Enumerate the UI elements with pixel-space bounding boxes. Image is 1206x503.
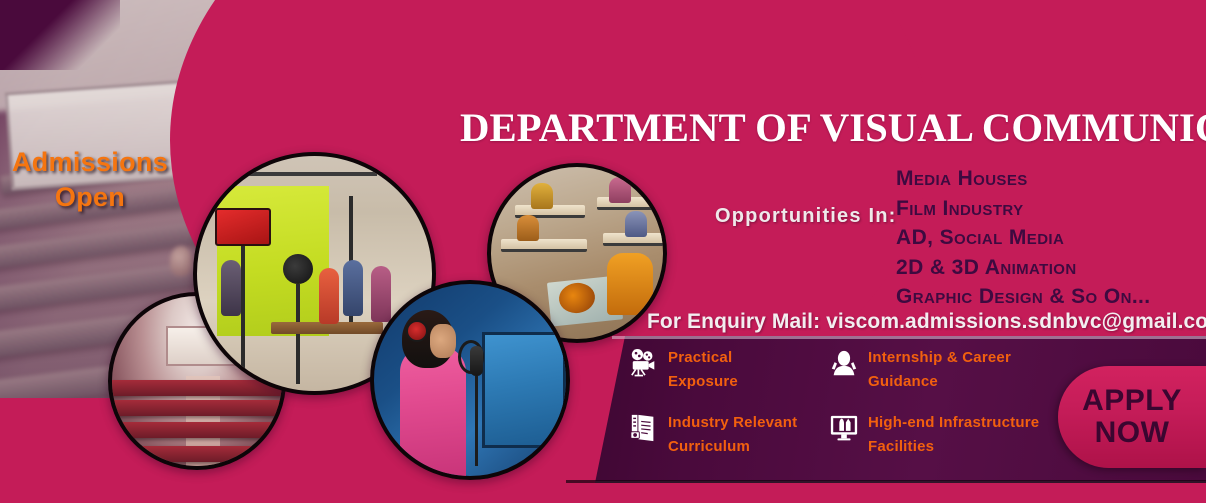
apply-now-button[interactable]: APPLY NOW [1058, 366, 1206, 468]
light-stand [241, 246, 245, 376]
opportunity-item: Graphic Design & so on... [896, 282, 1151, 312]
studio-person [221, 260, 241, 316]
seat-row [112, 400, 282, 416]
studio-light-rig [227, 172, 377, 176]
classroom-student [517, 215, 539, 241]
opportunity-item: AD, Social Media [896, 223, 1151, 253]
admissions-line-1: Admissions [0, 145, 180, 180]
feature-line-1: Industry Relevant [668, 414, 797, 431]
feature-industry-curriculum: Industry Relevant Curriculum [629, 411, 829, 476]
studio-softbox [283, 254, 313, 284]
singer-face [430, 324, 456, 358]
classroom-desk [501, 239, 587, 252]
feature-label: Practical Exposure [668, 346, 738, 394]
film-camera-icon [629, 348, 659, 378]
studio-person [371, 266, 391, 322]
seat-row [112, 422, 282, 438]
opportunities-label: Opportunities In: [715, 205, 897, 228]
person-with-tools-icon [829, 348, 859, 378]
opportunities-list: Media Houses Film Industry AD, Social Me… [896, 164, 1151, 312]
feature-practical-exposure: Practical Exposure [629, 346, 829, 411]
monitor-design-tools-icon [829, 413, 859, 443]
top-left-dark-corner [0, 0, 120, 70]
microphone [470, 346, 483, 376]
classroom-desk [597, 197, 665, 210]
apply-line-1: APPLY [1082, 385, 1182, 417]
recording-booth-photo [370, 280, 570, 480]
feature-line-2: Facilities [868, 438, 934, 455]
foreground-student [607, 253, 653, 315]
feature-line-2: Exposure [668, 373, 738, 390]
opportunity-item: 2D & 3D Animation [896, 253, 1151, 283]
admissions-open-text: Admissions Open [0, 145, 180, 214]
seat-row [112, 446, 282, 462]
feature-label: Industry Relevant Curriculum [668, 411, 797, 459]
apply-line-2: NOW [1095, 417, 1170, 449]
feature-line-1: High-end Infrastructure [868, 414, 1039, 431]
feature-line-1: Practical [668, 349, 732, 366]
classroom-student [531, 183, 553, 209]
page-title: DEPARTMENT OF VISUAL COMMUNICATION [460, 108, 1206, 148]
document-curriculum-icon [629, 413, 659, 443]
feature-label: High-end Infrastructure Facilities [868, 411, 1039, 459]
headphones-icon [406, 320, 428, 342]
classroom-student [609, 177, 631, 203]
light-stand [296, 284, 300, 384]
opportunity-item: Film Industry [896, 194, 1151, 224]
studio-person [319, 268, 339, 324]
opportunity-item: Media Houses [896, 164, 1151, 194]
feature-line-1: Internship & Career [868, 349, 1011, 366]
admissions-banner: Admissions Open [0, 0, 1206, 503]
admissions-line-2: Open [0, 180, 180, 215]
booth-window [482, 332, 566, 448]
mic-stand [475, 376, 478, 466]
feature-line-2: Guidance [868, 373, 938, 390]
feature-label: Internship & Career Guidance [868, 346, 1011, 394]
feature-line-2: Curriculum [668, 438, 750, 455]
studio-person [343, 260, 363, 316]
classroom-student [625, 211, 647, 237]
seat-row [112, 380, 282, 396]
studio-red-light [215, 208, 271, 246]
enquiry-email-text[interactable]: For Enquiry Mail: viscom.admissions.sdnb… [647, 310, 1206, 334]
